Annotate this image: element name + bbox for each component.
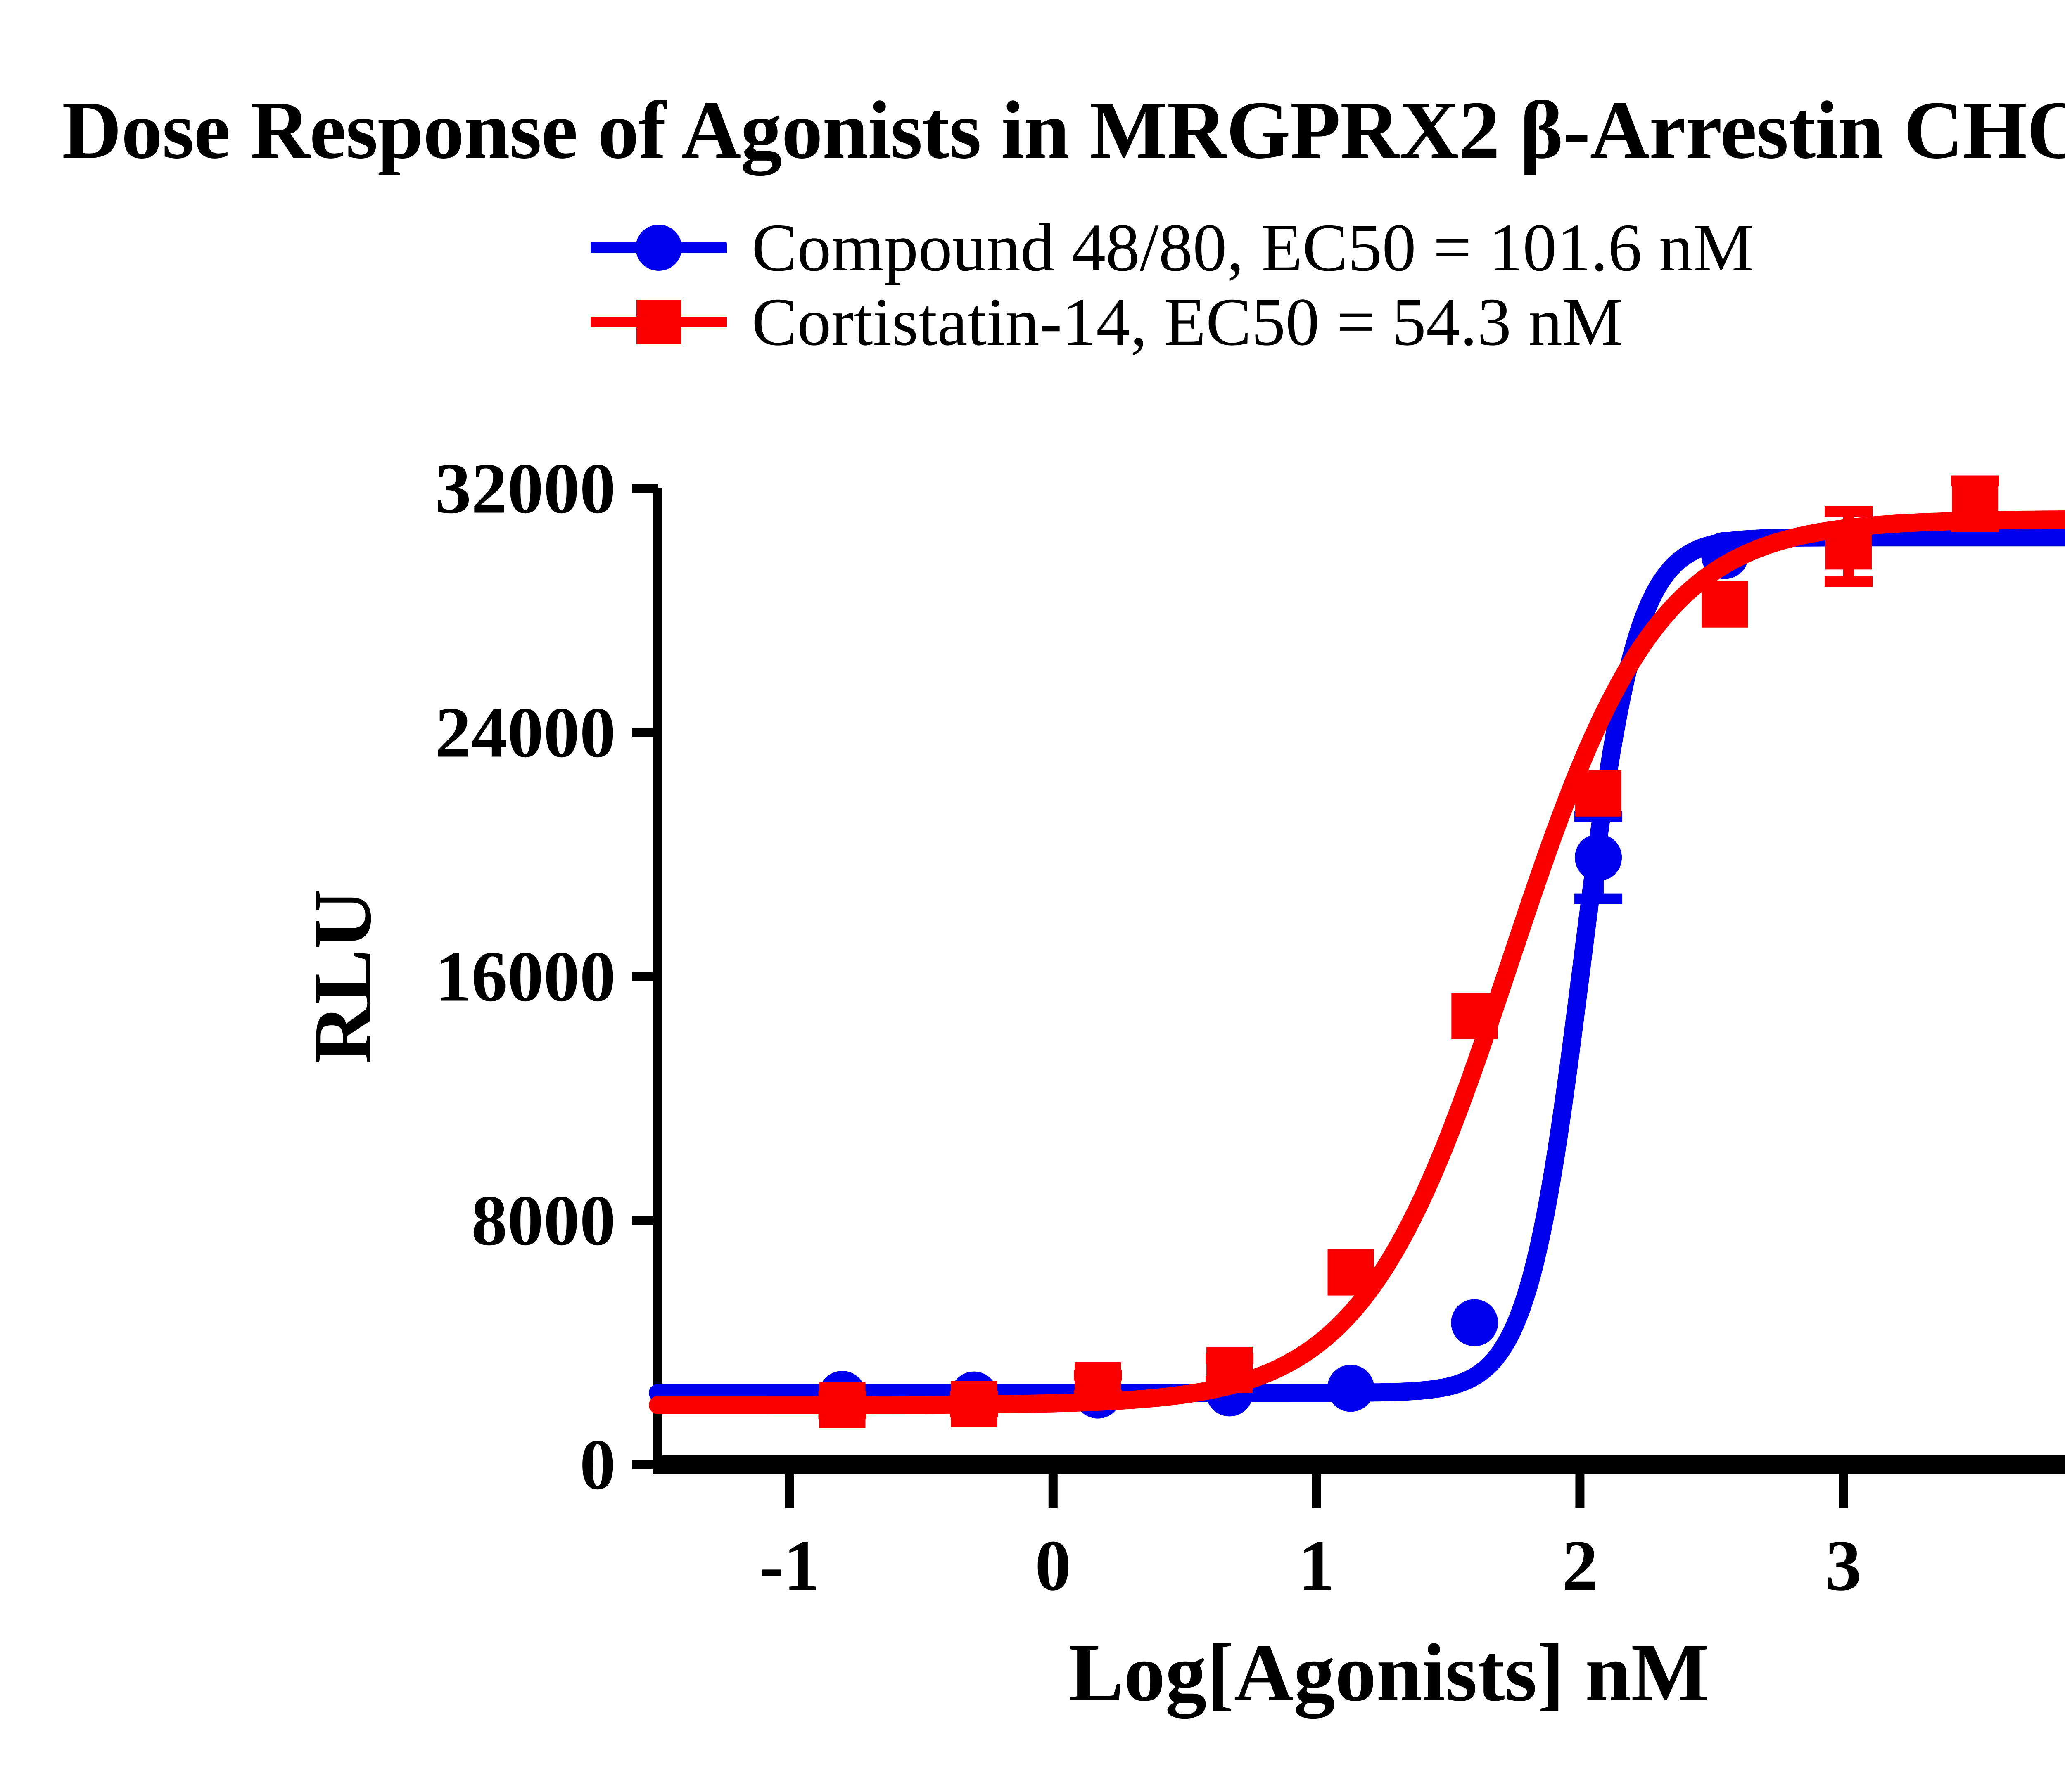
x-tick-label-0: 0 <box>1035 1524 1071 1607</box>
x-tick-label--1: -1 <box>760 1524 820 1607</box>
data-point-square-s1-p1[interactable] <box>951 1381 997 1427</box>
x-axis-title: Log[Agonists] nM <box>1069 1626 1709 1720</box>
x-tick-label-3: 3 <box>1825 1524 1862 1607</box>
data-point-square-s1-p5[interactable] <box>1451 993 1498 1039</box>
data-point-square-s1-p9[interactable] <box>1952 481 1998 527</box>
x-tick-label-2: 2 <box>1562 1524 1598 1607</box>
y-tick-label-24000: 24000 <box>0 691 616 774</box>
data-point-square-s1-p7[interactable] <box>1702 581 1748 628</box>
data-point-square-s1-p3[interactable] <box>1206 1347 1253 1393</box>
y-axis-title: RLU <box>296 889 390 1064</box>
plot-area: 08000160002400032000-101234Log[Agonists]… <box>0 0 2065 1792</box>
chart-root: Dose Response of Agonists in MRGPRX2 β-A… <box>0 0 2065 1792</box>
y-tick-label-8000: 8000 <box>0 1179 616 1262</box>
data-point-square-s1-p8[interactable] <box>1825 523 1872 569</box>
data-point-circle-s0-p6[interactable] <box>1575 834 1622 881</box>
data-point-circle-s0-p5[interactable] <box>1451 1299 1498 1346</box>
y-tick-label-32000: 32000 <box>0 447 616 530</box>
data-point-square-s1-p2[interactable] <box>1075 1362 1121 1408</box>
data-point-square-s1-p4[interactable] <box>1328 1249 1374 1296</box>
data-point-circle-s0-p4[interactable] <box>1327 1365 1374 1412</box>
y-tick-label-0: 0 <box>0 1423 616 1506</box>
data-point-square-s1-p0[interactable] <box>819 1382 865 1428</box>
x-tick-label-1: 1 <box>1298 1524 1335 1607</box>
data-point-square-s1-p6[interactable] <box>1575 770 1621 817</box>
